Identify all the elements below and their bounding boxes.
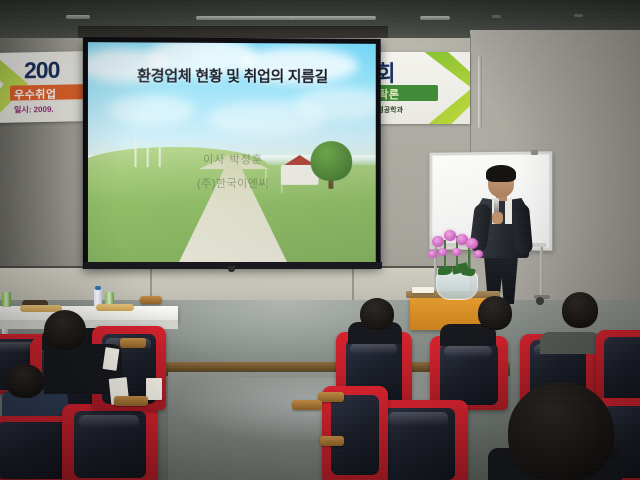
- seat-highlight: [444, 346, 492, 358]
- orchid-bloom: [474, 250, 483, 258]
- orchid-bloom: [432, 236, 444, 247]
- snack-plate: [96, 304, 134, 311]
- banner-date-text: 일시: 2009.: [14, 104, 54, 116]
- speaker-at-front: [470, 168, 534, 304]
- dado-seam: [352, 268, 354, 304]
- ceiling-light-icon: [66, 15, 90, 19]
- projected-slide: 환경업체 현황 및 취업의 지름길 이사 박정훈 (주)한국이엔씨: [88, 42, 376, 264]
- attendee-head: [360, 298, 394, 330]
- banner-year-text: 200: [24, 57, 59, 85]
- seat-highlight: [79, 415, 139, 428]
- orchid-bloom: [438, 248, 447, 256]
- attendee-head-foreground: [508, 382, 614, 480]
- wall-rod: [478, 56, 482, 128]
- seat: [430, 336, 508, 410]
- attendee-head: [44, 310, 86, 350]
- lecture-hall-photo: 200 우수취업 일시: 2009. 수회 공전탁론 학교 환경공학과: [0, 0, 640, 480]
- ceiling-light-icon: [574, 14, 583, 17]
- handout-paper: [146, 378, 162, 400]
- seat: [596, 330, 640, 408]
- orchid-bloom: [466, 238, 478, 249]
- seat-pad: [0, 422, 71, 479]
- attendee-head: [562, 292, 598, 328]
- armrest: [320, 436, 344, 446]
- ceiling-light-icon: [196, 16, 292, 20]
- screen-hook: [228, 266, 235, 272]
- whiteboard-caster-icon: [536, 297, 544, 305]
- attendee-head: [6, 364, 44, 398]
- projection-screen: 환경업체 현황 및 취업의 지름길 이사 박정훈 (주)한국이엔씨: [83, 37, 381, 269]
- speaker-right-arm: [512, 203, 533, 254]
- armrest: [140, 296, 162, 304]
- orchid-bloom: [444, 230, 456, 241]
- ceiling-soffit: [78, 26, 388, 38]
- screen-glare: [88, 42, 376, 264]
- orchid-bloom: [428, 250, 437, 258]
- seat-highlight: [388, 412, 449, 426]
- seat-pad: [604, 337, 640, 403]
- ceiling-light-icon: [492, 15, 501, 18]
- armrest: [292, 400, 322, 410]
- attendee-head: [478, 296, 512, 330]
- speaker-hand: [492, 212, 503, 224]
- armrest: [120, 338, 146, 348]
- seat-highlight: [350, 343, 397, 355]
- armrest: [114, 396, 148, 406]
- seat: [62, 404, 158, 480]
- ceiling-light-icon: [420, 16, 450, 20]
- flower-vase: [436, 272, 478, 300]
- banner-highlight-text: 우수취업: [14, 86, 56, 103]
- ceiling-light-icon: [290, 16, 376, 20]
- whiteboard-clip-icon: [531, 150, 538, 155]
- seat-pad: [331, 395, 380, 476]
- drink-can: [2, 292, 11, 307]
- banner-highlight-pill: 우수취업: [10, 84, 88, 101]
- speaker-hair: [486, 165, 516, 182]
- podium-paper: [412, 287, 434, 293]
- wall-dado-panel: [0, 268, 470, 304]
- event-banner-left: 200 우수취업 일시: 2009.: [0, 51, 92, 123]
- whiteboard-leg: [540, 247, 543, 297]
- attendee-body: [540, 332, 600, 354]
- armrest: [318, 392, 344, 402]
- orchid-bloom: [452, 248, 461, 256]
- bottle-cap: [95, 286, 101, 290]
